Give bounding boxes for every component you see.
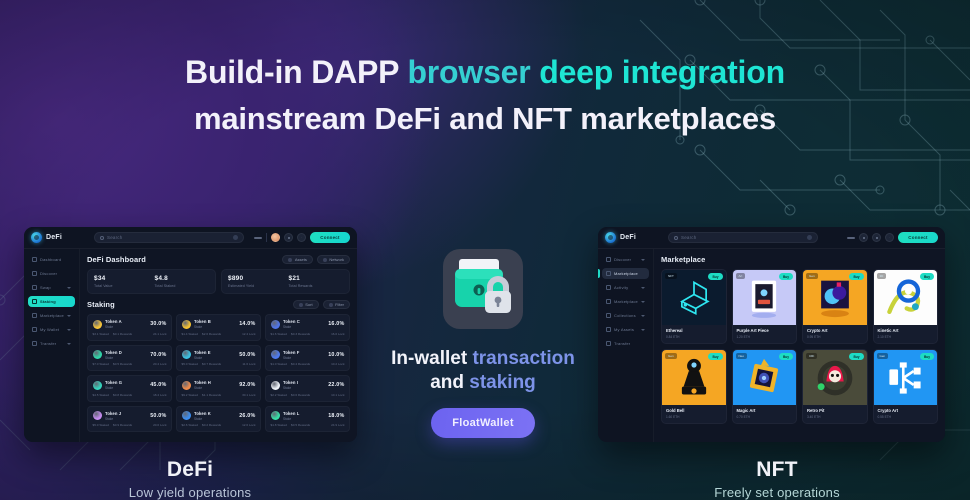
defi-body: DashboardDiscoverSwapStakingMarketplaceM… (24, 249, 357, 442)
stat-value: $34 (94, 275, 149, 282)
lock-period: 12.0 Lock (242, 423, 255, 427)
buy-badge[interactable]: Buy (849, 353, 863, 360)
staking-card-names: Token DStake (105, 350, 122, 360)
nft-title: Purple Art Piece (737, 328, 793, 333)
apy-value: 70.0% (150, 352, 166, 358)
floatwallet-cta-button[interactable]: FloatWallet (431, 408, 535, 438)
nft-price: 3.40 ETH (807, 415, 863, 419)
pill-label: Assets (295, 257, 307, 262)
staking-title: Staking (87, 300, 115, 309)
sidebar-item-discover[interactable]: Discover (602, 254, 649, 265)
lock-period: 24.1 Lock (153, 332, 166, 336)
chevron-down-icon (641, 301, 645, 303)
staking-card-header: Token LStake18.0% (271, 411, 345, 421)
sidebar-item-label: Transfer (40, 341, 56, 346)
nft-price: 0.95 ETH (807, 335, 863, 339)
token-name: Token G (105, 380, 122, 385)
token-name: Token A (105, 319, 122, 324)
staked-amount: $2.6 Staked (182, 423, 199, 427)
nft-category-tag: Gen (665, 353, 677, 359)
token-name: Token F (283, 350, 299, 355)
nft-search-input[interactable]: Search (668, 232, 818, 243)
nft-title: Gold Bell (666, 408, 722, 413)
sidebar-item-collections[interactable]: Collections (602, 310, 649, 321)
sidebar-item-icon (32, 313, 37, 318)
sidebar-item-icon (606, 285, 611, 290)
staked-amount: $2.2 Staked (271, 393, 288, 397)
staking-card[interactable]: Token GStake45.0%$4.5 Staked$0.8 Rewards… (87, 375, 172, 402)
apy-value: 92.0% (239, 382, 255, 388)
staking-pill-filter[interactable]: Filter (323, 300, 350, 309)
buy-badge[interactable]: Buy (779, 353, 793, 360)
chevron-down-icon (67, 287, 71, 289)
sidebar-item-label: Activity (614, 285, 628, 290)
headline-part-3: deep integration (539, 54, 785, 90)
nft-card[interactable]: GenBuyCrypto Art0.55 ETH (873, 349, 939, 424)
nft-meta: Magic Art0.70 ETH (733, 405, 797, 423)
buy-badge[interactable]: Buy (849, 273, 863, 280)
staking-card-header: Token KStake26.0% (182, 411, 256, 421)
nft-meta: Ethereal0.84 ETH (662, 325, 726, 343)
token-sub: Stake (283, 356, 299, 360)
nft-footer: NFT Freely set operations (667, 458, 887, 500)
staking-actions: SortFilter (293, 300, 350, 309)
sidebar-item-activity[interactable]: Activity (602, 282, 649, 293)
apy-value: 50.0% (239, 352, 255, 358)
staking-card[interactable]: Token HStake92.0%$9.2 Staked$1.1 Rewards… (176, 375, 261, 402)
bell-icon[interactable] (872, 233, 881, 242)
stat-item: $34Total Value (94, 275, 149, 288)
headline-part-2: browser (407, 54, 539, 90)
connect-wallet-button[interactable]: Connect (898, 232, 938, 243)
defi-footer-title: DeFi (80, 458, 300, 482)
page-title: DeFi Dashboard (87, 255, 146, 264)
staking-card-header: Token AStake30.0% (93, 319, 167, 329)
sidebar-item-marketplace[interactable]: Marketplace (602, 296, 649, 307)
defi-stats: $34Total Value$4.8Total Staked$890Estima… (87, 269, 350, 294)
headline-part-1: Build-in DAPP (185, 54, 407, 90)
nft-category-tag: 3D (877, 273, 887, 279)
staked-amount: $7.0 Staked (93, 362, 110, 366)
staking-card-meta: $1.4 Staked$2.0 Rewards12.4 Lock (182, 332, 256, 336)
sidebar-item-label: My Wallet (40, 327, 59, 332)
sidebar-item-label: My Assets (614, 327, 634, 332)
nft-sidebar: DiscoverMarketplaceActivityMarketplaceCo… (598, 249, 654, 442)
page-title: Marketplace (661, 255, 705, 264)
nft-price: 0.84 ETH (666, 335, 722, 339)
sidebar-item-dashboard[interactable]: Dashboard (28, 254, 75, 265)
sidebar-item-icon (606, 257, 611, 262)
defi-content-header: DeFi Dashboard AssetsNetwork (87, 255, 350, 264)
nft-meta: Retro Pit3.40 ETH (803, 405, 867, 423)
nft-artwork: ArtBuy (733, 270, 797, 325)
center-feature: In-wallet transaction and staking FloatW… (383, 243, 583, 438)
nft-card-grid: NFTBuyEthereal0.84 ETHArtBuyPurple Art P… (661, 269, 938, 424)
avatar[interactable] (271, 233, 280, 242)
staking-card-names: Token KStake (194, 411, 211, 421)
staking-card-names: Token EStake (194, 350, 211, 360)
buy-badge[interactable]: Buy (708, 353, 722, 360)
sidebar-item-icon (32, 285, 37, 290)
stat-card: $34Total Value$4.8Total Staked (87, 269, 216, 294)
staking-card[interactable]: Token BStake14.0%$1.4 Staked$2.0 Rewards… (176, 314, 261, 341)
pill-icon (329, 303, 333, 307)
token-icon (182, 411, 191, 420)
sidebar-item-icon (606, 313, 611, 318)
sidebar-item-discover[interactable]: Discover (28, 268, 75, 279)
nft-price: 2.10 ETH (878, 335, 934, 339)
nft-artwork: 3DBuy (874, 270, 938, 325)
staked-amount: $1.8 Staked (271, 423, 288, 427)
token-sub: Stake (105, 417, 121, 421)
staking-card-header: Token DStake70.0% (93, 350, 167, 360)
nft-category-tag: Gen (877, 353, 889, 359)
nft-meta: Crypto Art0.55 ETH (874, 405, 938, 423)
search-icon (100, 236, 104, 240)
token-sub: Stake (105, 325, 122, 329)
token-icon (93, 411, 102, 420)
token-sub: Stake (194, 356, 211, 360)
token-sub: Stake (194, 386, 211, 390)
nft-artwork: NFTBuy (662, 270, 726, 325)
gear-icon[interactable] (284, 233, 293, 242)
rewards-amount: $0.5 Rewards (291, 423, 310, 427)
chevron-down-icon (641, 329, 645, 331)
apy-value: 22.0% (328, 382, 344, 388)
page-headline: Build-in DAPP browser deep integration m… (0, 52, 970, 138)
nft-artwork: NeoBuy (733, 350, 797, 405)
token-name: Token D (105, 350, 122, 355)
sidebar-item-label: Discover (40, 271, 57, 276)
staking-card-names: Token AStake (105, 319, 122, 329)
staking-card[interactable]: Token IStake22.0%$2.2 Staked$0.6 Rewards… (265, 375, 350, 402)
staking-card-header: Token BStake14.0% (182, 319, 256, 329)
nft-card[interactable]: NFTBuyEthereal0.84 ETH (661, 269, 727, 344)
staking-card-meta: $1.0 Staked$0.4 Rewards10.2 Lock (271, 362, 345, 366)
apy-value: 30.0% (150, 321, 166, 327)
staking-card-meta: $1.8 Staked$0.5 Rewards24.9 Lock (271, 423, 345, 427)
token-sub: Stake (105, 356, 122, 360)
buy-badge[interactable]: Buy (779, 273, 793, 280)
staking-card-names: Token GStake (105, 380, 122, 390)
sidebar-item-my-wallet[interactable]: My Wallet (28, 324, 75, 335)
defi-brand: DeFi (31, 232, 87, 243)
nft-card[interactable]: GenBuyGold Bell1.60 ETH (661, 349, 727, 424)
logo-icon (605, 232, 616, 243)
nft-footer-subtitle: Freely set operations (667, 485, 887, 500)
staked-amount: $3.1 Staked (93, 332, 110, 336)
rewards-amount: $0.3 Rewards (291, 332, 310, 336)
sidebar-item-marketplace[interactable]: Marketplace (602, 268, 649, 279)
sidebar-item-staking[interactable]: Staking (28, 296, 75, 307)
nft-meta: Kinetic Art2.10 ETH (874, 325, 938, 343)
lock-period: 24.9 Lock (331, 423, 344, 427)
token-name: Token B (194, 319, 211, 324)
stat-label: Estimated Yield (228, 284, 283, 288)
buy-badge[interactable]: Buy (920, 273, 934, 280)
token-icon (182, 350, 191, 359)
token-name: Token E (194, 350, 211, 355)
staking-pill-sort[interactable]: Sort (293, 300, 319, 309)
minimize-icon[interactable] (254, 237, 262, 239)
token-sub: Stake (194, 417, 211, 421)
nft-artwork: GenBuy (662, 350, 726, 405)
staking-card-grid: Token AStake30.0%$3.1 Staked$0.1 Rewards… (87, 314, 350, 432)
sidebar-item-icon (606, 299, 611, 304)
staking-card[interactable]: Token KStake26.0%$2.6 Staked$0.2 Rewards… (176, 406, 261, 433)
lock-period: 20.4 Lock (153, 362, 166, 366)
apy-value: 50.0% (150, 413, 166, 419)
nft-card[interactable]: NeoBuyMagic Art0.70 ETH (732, 349, 798, 424)
staking-card-names: Token CStake (283, 319, 300, 329)
nft-artwork: GenBuy (874, 350, 938, 405)
nft-content: Marketplace NFTBuyEthereal0.84 ETHArtBuy… (654, 249, 945, 442)
nft-meta: Crypto Art0.95 ETH (803, 325, 867, 343)
nft-title: Crypto Art (878, 408, 934, 413)
staking-card-header: Token HStake92.0% (182, 380, 256, 390)
token-name: Token I (283, 380, 298, 385)
lock-period: 10.2 Lock (331, 362, 344, 366)
token-name: Token K (194, 411, 211, 416)
nft-title: Kinetic Art (878, 328, 934, 333)
sidebar-item-label: Marketplace (614, 271, 638, 276)
nft-meta: Gold Bell1.60 ETH (662, 405, 726, 423)
toolbar-divider (266, 233, 267, 242)
defi-search-input[interactable]: Search (94, 232, 244, 243)
apps-grid-icon[interactable] (297, 233, 306, 242)
header-pill-network[interactable]: Network (317, 255, 350, 264)
nft-titlebar: DeFi Search Connect (598, 227, 945, 249)
token-sub: Stake (194, 325, 211, 329)
staking-card-meta: $1.6 Staked$0.3 Rewards16.0 Lock (271, 332, 345, 336)
token-name: Token J (105, 411, 121, 416)
staking-card-names: Token HStake (194, 380, 211, 390)
staked-amount: $1.4 Staked (182, 332, 199, 336)
staking-card-meta: $9.2 Staked$1.1 Rewards30.1 Lock (182, 393, 256, 397)
connect-wallet-button[interactable]: Connect (310, 232, 350, 243)
caption-part-2: transaction (472, 348, 574, 369)
staking-card[interactable]: Token LStake18.0%$1.8 Staked$0.5 Rewards… (265, 406, 350, 433)
apy-value: 14.0% (239, 321, 255, 327)
sidebar-item-label: Collections (614, 313, 636, 318)
rewards-amount: $0.8 Rewards (113, 393, 132, 397)
staking-card-names: Token FStake (283, 350, 299, 360)
nft-title: Crypto Art (807, 328, 863, 333)
nft-toolbar: Connect (847, 232, 938, 243)
nft-price: 0.70 ETH (737, 415, 793, 419)
rewards-amount: $0.7 Rewards (202, 362, 221, 366)
sidebar-item-label: Staking (40, 299, 56, 304)
brand-label: DeFi (620, 234, 636, 241)
sidebar-item-label: Swap (40, 285, 51, 290)
staking-card[interactable]: Token EStake50.0%$5.0 Staked$0.7 Rewards… (176, 345, 261, 372)
sidebar-item-icon (606, 341, 611, 346)
stat-card: $890Estimated Yield$21Total Rewards (221, 269, 350, 294)
logo-icon (31, 232, 42, 243)
apy-value: 18.0% (328, 413, 344, 419)
nft-price: 1.20 ETH (737, 335, 793, 339)
sidebar-item-transfer[interactable]: Transfer (28, 338, 75, 349)
token-icon (182, 381, 191, 390)
nft-category-tag: CRt (806, 353, 817, 359)
nft-brand: DeFi (605, 232, 661, 243)
rewards-amount: $0.2 Rewards (202, 423, 221, 427)
nft-category-tag: Art (736, 273, 746, 279)
rewards-amount: $0.9 Rewards (113, 423, 132, 427)
search-icon (674, 236, 678, 240)
chevron-down-icon (67, 329, 71, 331)
rewards-amount: $0.6 Rewards (291, 393, 310, 397)
minimize-icon[interactable] (847, 237, 855, 239)
brand-label: DeFi (46, 234, 62, 241)
pill-label: Sort (305, 302, 312, 307)
staked-amount: $1.0 Staked (271, 362, 288, 366)
staking-card-names: Token BStake (194, 319, 211, 329)
rewards-amount: $0.5 Rewards (113, 362, 132, 366)
lock-period: 18.4 Lock (153, 393, 166, 397)
chevron-down-icon (641, 259, 645, 261)
staking-card[interactable]: Token AStake30.0%$3.1 Staked$0.1 Rewards… (87, 314, 172, 341)
defi-footer-subtitle: Low yield operations (80, 485, 300, 500)
pill-icon (323, 258, 327, 262)
gear-icon[interactable] (859, 233, 868, 242)
token-icon (271, 381, 280, 390)
chevron-down-icon (641, 287, 645, 289)
staking-card[interactable]: Token JStake50.0%$5.0 Staked$0.9 Rewards… (87, 406, 172, 433)
staked-amount: $5.0 Staked (182, 362, 199, 366)
staking-card[interactable]: Token FStake10.0%$1.0 Staked$0.4 Rewards… (265, 345, 350, 372)
nft-title: Magic Art (737, 408, 793, 413)
pill-icon (288, 258, 292, 262)
nft-app-window: DeFi Search Connect DiscoverMarketplaceA… (598, 227, 945, 442)
nft-meta: Purple Art Piece1.20 ETH (733, 325, 797, 343)
chevron-down-icon (67, 315, 71, 317)
nft-category-tag: NFT (665, 273, 677, 279)
stat-item: $890Estimated Yield (228, 275, 283, 288)
buy-badge[interactable]: Buy (708, 273, 722, 280)
staked-amount: $4.5 Staked (93, 393, 110, 397)
lock-period: 30.1 Lock (242, 393, 255, 397)
sidebar-item-label: Marketplace (40, 313, 64, 318)
token-sub: Stake (283, 417, 299, 421)
lock-period: 10.1 Lock (331, 393, 344, 397)
token-icon (182, 320, 191, 329)
nft-category-tag: Neo (736, 353, 748, 359)
nft-content-header: Marketplace (661, 255, 938, 264)
lock-period: 11.6 Lock (242, 362, 255, 366)
rewards-amount: $0.4 Rewards (291, 362, 310, 366)
token-icon (93, 350, 102, 359)
rewards-amount: $2.0 Rewards (202, 332, 221, 336)
headline-line-2: mainstream DeFi and NFT marketplaces (0, 99, 970, 138)
sidebar-item-transfer[interactable]: Transfer (602, 338, 649, 349)
staking-card-names: Token IStake (283, 380, 298, 390)
staking-card-meta: $4.5 Staked$0.8 Rewards18.4 Lock (93, 393, 167, 397)
sidebar-item-marketplace[interactable]: Marketplace (28, 310, 75, 321)
staking-card[interactable]: Token DStake70.0%$7.0 Staked$0.5 Rewards… (87, 345, 172, 372)
nft-footer-title: NFT (667, 458, 887, 482)
token-icon (271, 411, 280, 420)
search-clear-icon[interactable] (233, 235, 238, 240)
token-icon (93, 320, 102, 329)
caption-part-3: and (430, 372, 469, 393)
staking-card-meta: $7.0 Staked$0.5 Rewards20.4 Lock (93, 362, 167, 366)
staking-card-header: Token FStake10.0% (271, 350, 345, 360)
search-clear-icon[interactable] (807, 235, 812, 240)
caption-part-4: staking (469, 372, 536, 393)
token-sub: Stake (283, 386, 298, 390)
header-pill-assets[interactable]: Assets (282, 255, 313, 264)
nft-card[interactable]: GenBuyCrypto Art0.95 ETH (802, 269, 868, 344)
sidebar-item-icon (32, 271, 37, 276)
nft-title: Ethereal (666, 328, 722, 333)
apy-value: 10.0% (328, 352, 344, 358)
nft-card[interactable]: 3DBuyKinetic Art2.10 ETH (873, 269, 939, 344)
defi-sidebar: DashboardDiscoverSwapStakingMarketplaceM… (24, 249, 80, 442)
stat-item: $21Total Rewards (289, 275, 344, 288)
token-icon (271, 350, 280, 359)
sidebar-item-icon (606, 327, 611, 332)
defi-footer: DeFi Low yield operations (80, 458, 300, 500)
staking-card-meta: $2.6 Staked$0.2 Rewards12.0 Lock (182, 423, 256, 427)
sidebar-item-label: Dashboard (40, 257, 61, 262)
apps-grid-icon[interactable] (885, 233, 894, 242)
nft-price: 0.55 ETH (878, 415, 934, 419)
token-name: Token C (283, 319, 300, 324)
nft-body: DiscoverMarketplaceActivityMarketplaceCo… (598, 249, 945, 442)
staking-card-header: Token IStake22.0% (271, 380, 345, 390)
rewards-amount: $0.1 Rewards (113, 332, 132, 336)
lock-period: 12.4 Lock (242, 332, 255, 336)
token-icon (271, 320, 280, 329)
chevron-down-icon (67, 343, 71, 345)
sidebar-item-my-assets[interactable]: My Assets (602, 324, 649, 335)
nft-title: Retro Pit (807, 408, 863, 413)
staking-card-names: Token JStake (105, 411, 121, 421)
staking-card-meta: $5.0 Staked$0.7 Rewards11.6 Lock (182, 362, 256, 366)
apy-value: 16.0% (328, 321, 344, 327)
center-caption: In-wallet transaction and staking (383, 347, 583, 396)
chevron-down-icon (641, 315, 645, 317)
nft-card[interactable]: CRtBuyRetro Pit3.40 ETH (802, 349, 868, 424)
stat-value: $4.8 (155, 275, 210, 282)
defi-toolbar: Connect (254, 232, 350, 243)
pill-label: Filter (335, 302, 344, 307)
staking-card[interactable]: Token CStake16.0%$1.6 Staked$0.3 Rewards… (265, 314, 350, 341)
stat-item: $4.8Total Staked (155, 275, 210, 288)
defi-header-actions: AssetsNetwork (282, 255, 350, 264)
nft-card[interactable]: ArtBuyPurple Art Piece1.20 ETH (732, 269, 798, 344)
token-name: Token H (194, 380, 211, 385)
defi-content: DeFi Dashboard AssetsNetwork $34Total Va… (80, 249, 357, 442)
sidebar-item-label: Transfer (614, 341, 630, 346)
caption-part-1: In-wallet (391, 348, 472, 369)
apy-value: 45.0% (150, 382, 166, 388)
staking-card-meta: $5.0 Staked$0.9 Rewards20.0 Lock (93, 423, 167, 427)
sidebar-item-icon (606, 271, 611, 276)
staking-card-names: Token LStake (283, 411, 299, 421)
sidebar-item-swap[interactable]: Swap (28, 282, 75, 293)
pill-icon (299, 303, 303, 307)
sidebar-item-icon (32, 257, 37, 262)
nft-price: 1.60 ETH (666, 415, 722, 419)
sidebar-item-label: Marketplace (614, 299, 638, 304)
stat-value: $890 (228, 275, 283, 282)
buy-badge[interactable]: Buy (920, 353, 934, 360)
nft-artwork: GenBuy (803, 270, 867, 325)
token-sub: Stake (283, 325, 300, 329)
staking-header: Staking SortFilter (87, 300, 350, 309)
